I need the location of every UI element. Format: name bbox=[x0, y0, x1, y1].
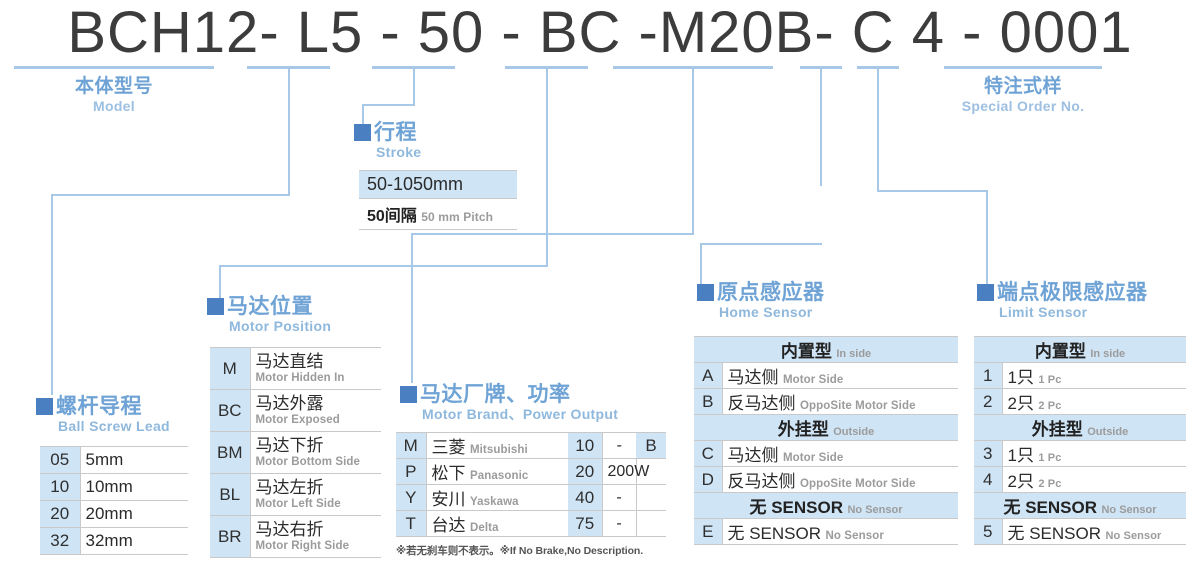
code-underline-model bbox=[14, 66, 214, 69]
brand-name-cell: 松下 Panasonic bbox=[426, 459, 568, 485]
limit-sensor-label-cn: 端点极限感应器 bbox=[997, 282, 1148, 304]
leader-home-h1 bbox=[700, 243, 822, 245]
brand-code-cell: M bbox=[396, 433, 426, 459]
stroke-range-row: 50-1050mm bbox=[359, 170, 517, 199]
home-sensor-section-cell: 内置型 In side bbox=[694, 337, 958, 363]
table-row: 055mm bbox=[40, 447, 188, 474]
limit-sensor-desc-cell: 1只 1 Pc bbox=[1002, 363, 1186, 389]
brake-code-cell bbox=[636, 511, 666, 537]
table-row: E无 SENSOR No Sensor bbox=[694, 519, 958, 545]
table-row: M马达直结Motor Hidden In bbox=[210, 348, 381, 390]
lead-value-cell: 32mm bbox=[80, 528, 188, 555]
home-sensor-desc-cell: 马达侧 Motor Side bbox=[722, 441, 958, 467]
motor-position-heading: 马达位置 Motor Position bbox=[207, 296, 331, 335]
limit-sensor-section-cell: 无 SENSOR No Sensor bbox=[974, 493, 1186, 519]
leader-lead-v2 bbox=[51, 194, 53, 395]
lead-value-cell: 20mm bbox=[80, 501, 188, 528]
power-value-cell: 200W bbox=[602, 459, 636, 485]
brand-name-cell: 台达 Delta bbox=[426, 511, 568, 537]
stroke-pitch-cn: 50间隔 bbox=[367, 208, 417, 225]
power-code-cell: 75 bbox=[568, 511, 602, 537]
limit-sensor-code-cell: 1 bbox=[974, 363, 1002, 389]
power-value-cell: - bbox=[602, 485, 636, 511]
stroke-label-cn: 行程 bbox=[374, 122, 417, 144]
motor-position-bullet-icon bbox=[207, 298, 224, 315]
leader-stroke-v1 bbox=[413, 66, 415, 105]
motor-position-code-cell: BL bbox=[210, 474, 250, 516]
home-sensor-section-cell: 外挂型 Outside bbox=[694, 415, 958, 441]
table-row: Y安川 Yaskawa40- bbox=[396, 485, 666, 511]
home-sensor-code-cell: D bbox=[694, 467, 722, 493]
table-row: D反马达侧 OppoSite Motor Side bbox=[694, 467, 958, 493]
table-row: BC马达外露Motor Exposed bbox=[210, 390, 381, 432]
code-underline-specialorder bbox=[944, 66, 1102, 69]
brand-code-cell: Y bbox=[396, 485, 426, 511]
brand-code-cell: T bbox=[396, 511, 426, 537]
home-sensor-table: 内置型 In sideA马达侧 Motor SideB反马达侧 OppoSite… bbox=[694, 336, 958, 545]
motor-position-desc-cell: 马达左折Motor Left Side bbox=[250, 474, 381, 516]
motor-brand-bullet-icon bbox=[400, 386, 417, 403]
lead-code-cell: 32 bbox=[40, 528, 80, 555]
motor-position-code-cell: BM bbox=[210, 432, 250, 474]
motor-brand-power-table: M三菱 Mitsubishi10-BP松下 Panasonic20200WY安川… bbox=[396, 432, 666, 537]
home-sensor-label-cn: 原点感应器 bbox=[717, 282, 825, 304]
lead-code-cell: 20 bbox=[40, 501, 80, 528]
brake-code-cell bbox=[636, 485, 666, 511]
limit-sensor-code-cell: 3 bbox=[974, 441, 1002, 467]
table-row: M三菱 Mitsubishi10-B bbox=[396, 433, 666, 459]
motor-brand-footnote: ※若无刹车则不表示。※If No Brake,No Description. bbox=[396, 543, 643, 558]
product-code-line: BCH12- L5 - 50 - BC -M20B- C 4 - 0001 bbox=[0, 2, 1200, 64]
motor-position-label-cn: 马达位置 bbox=[227, 296, 313, 318]
motor-position-label-en: Motor Position bbox=[207, 318, 331, 335]
table-section-row: 外挂型 Outside bbox=[974, 415, 1186, 441]
special-order-heading: 特注式样 Special Order No. bbox=[944, 76, 1102, 115]
motor-position-code-cell: M bbox=[210, 348, 250, 390]
ball-screw-lead-bullet-icon bbox=[36, 398, 53, 415]
home-sensor-code-cell: A bbox=[694, 363, 722, 389]
home-sensor-desc-cell: 马达侧 Motor Side bbox=[722, 363, 958, 389]
table-section-row: 无 SENSOR No Sensor bbox=[694, 493, 958, 519]
table-row: 1010mm bbox=[40, 474, 188, 501]
home-sensor-label-en: Home Sensor bbox=[697, 304, 825, 321]
table-section-row: 外挂型 Outside bbox=[694, 415, 958, 441]
brake-code-cell: B bbox=[636, 433, 666, 459]
power-value-cell: - bbox=[602, 511, 636, 537]
brand-name-cell: 安川 Yaskawa bbox=[426, 485, 568, 511]
stroke-heading: 行程 Stroke bbox=[354, 122, 421, 161]
home-sensor-desc-cell: 反马达侧 OppoSite Motor Side bbox=[722, 467, 958, 493]
limit-sensor-section-cell: 内置型 In side bbox=[974, 337, 1186, 363]
table-row: B反马达侧 OppoSite Motor Side bbox=[694, 389, 958, 415]
table-row: BL马达左折Motor Left Side bbox=[210, 474, 381, 516]
leader-lead-h1 bbox=[51, 194, 290, 196]
leader-mbrand-v1 bbox=[692, 66, 694, 234]
leader-home-v2 bbox=[700, 243, 702, 286]
table-row: A马达侧 Motor Side bbox=[694, 363, 958, 389]
model-label-cn: 本体型号 bbox=[14, 76, 214, 98]
motor-brand-heading: 马达厂牌、功率 Motor Brand、Power Output bbox=[400, 384, 618, 423]
home-sensor-code-cell: C bbox=[694, 441, 722, 467]
limit-sensor-heading: 端点极限感应器 Limit Sensor bbox=[977, 282, 1148, 321]
leader-limit-v2 bbox=[986, 190, 988, 286]
table-row: 5无 SENSOR No Sensor bbox=[974, 519, 1186, 545]
table-row: 11只 1 Pc bbox=[974, 363, 1186, 389]
limit-sensor-code-cell: 4 bbox=[974, 467, 1002, 493]
motor-position-code-cell: BC bbox=[210, 390, 250, 432]
leader-stroke-v2 bbox=[362, 104, 364, 124]
ball-screw-lead-label-en: Ball Screw Lead bbox=[36, 418, 170, 435]
special-order-label-cn: 特注式样 bbox=[944, 76, 1102, 98]
leader-home-v1 bbox=[820, 66, 822, 186]
home-sensor-heading: 原点感应器 Home Sensor bbox=[697, 282, 825, 321]
ball-screw-lead-heading: 螺杆导程 Ball Screw Lead bbox=[36, 396, 170, 435]
leader-limit-v1 bbox=[877, 66, 879, 191]
limit-sensor-code-cell: 2 bbox=[974, 389, 1002, 415]
motor-position-desc-cell: 马达下折Motor Bottom Side bbox=[250, 432, 381, 474]
stroke-pitch-en: 50 mm Pitch bbox=[421, 210, 493, 224]
motor-position-desc-cell: 马达直结Motor Hidden In bbox=[250, 348, 381, 390]
stroke-label-en: Stroke bbox=[354, 144, 421, 161]
special-order-label-en: Special Order No. bbox=[944, 98, 1102, 115]
limit-sensor-code-cell: 5 bbox=[974, 519, 1002, 545]
table-row: C马达侧 Motor Side bbox=[694, 441, 958, 467]
brand-code-cell: P bbox=[396, 459, 426, 485]
home-sensor-desc-cell: 反马达侧 OppoSite Motor Side bbox=[722, 389, 958, 415]
stroke-pitch-row: 50间隔 50 mm Pitch bbox=[359, 199, 517, 230]
power-value-cell: - bbox=[602, 433, 636, 459]
limit-sensor-table: 内置型 In side11只 1 Pc22只 2 Pc外挂型 Outside31… bbox=[974, 336, 1186, 545]
limit-sensor-desc-cell: 1只 1 Pc bbox=[1002, 441, 1186, 467]
model-heading: 本体型号 Model bbox=[14, 76, 214, 115]
motor-position-code-cell: BR bbox=[210, 516, 250, 558]
table-section-row: 无 SENSOR No Sensor bbox=[974, 493, 1186, 519]
model-label-en: Model bbox=[14, 98, 214, 115]
home-sensor-bullet-icon bbox=[697, 284, 714, 301]
lead-value-cell: 10mm bbox=[80, 474, 188, 501]
lead-code-cell: 05 bbox=[40, 447, 80, 474]
limit-sensor-bullet-icon bbox=[977, 284, 994, 301]
power-code-cell: 10 bbox=[568, 433, 602, 459]
leader-stroke-h1 bbox=[362, 104, 415, 106]
limit-sensor-section-cell: 外挂型 Outside bbox=[974, 415, 1186, 441]
product-code-diagram: BCH12- L5 - 50 - BC -M20B- C 4 - 0001 本体… bbox=[0, 0, 1200, 575]
limit-sensor-desc-cell: 无 SENSOR No Sensor bbox=[1002, 519, 1186, 545]
leader-mpos-v1 bbox=[546, 66, 548, 266]
table-row: 2020mm bbox=[40, 501, 188, 528]
limit-sensor-desc-cell: 2只 2 Pc bbox=[1002, 467, 1186, 493]
motor-brand-label-en: Motor Brand、Power Output bbox=[400, 406, 618, 423]
table-row: 42只 2 Pc bbox=[974, 467, 1186, 493]
leader-limit-h1 bbox=[877, 190, 987, 192]
lead-code-cell: 10 bbox=[40, 474, 80, 501]
table-section-row: 内置型 In side bbox=[974, 337, 1186, 363]
ball-screw-lead-label-cn: 螺杆导程 bbox=[56, 396, 142, 418]
leader-mbrand-h1 bbox=[411, 233, 694, 235]
table-row: T台达 Delta75- bbox=[396, 511, 666, 537]
motor-position-desc-cell: 马达右折Motor Right Side bbox=[250, 516, 381, 558]
limit-sensor-desc-cell: 2只 2 Pc bbox=[1002, 389, 1186, 415]
table-row: P松下 Panasonic20200W bbox=[396, 459, 666, 485]
stroke-bullet-icon bbox=[354, 124, 371, 141]
table-row: 22只 2 Pc bbox=[974, 389, 1186, 415]
brand-name-cell: 三菱 Mitsubishi bbox=[426, 433, 568, 459]
stroke-table: 50-1050mm 50间隔 50 mm Pitch bbox=[359, 170, 517, 230]
table-row: BR马达右折Motor Right Side bbox=[210, 516, 381, 558]
table-row: BM马达下折Motor Bottom Side bbox=[210, 432, 381, 474]
power-code-cell: 20 bbox=[568, 459, 602, 485]
table-row: 31只 1 Pc bbox=[974, 441, 1186, 467]
motor-position-desc-cell: 马达外露Motor Exposed bbox=[250, 390, 381, 432]
table-section-row: 内置型 In side bbox=[694, 337, 958, 363]
motor-position-table: M马达直结Motor Hidden InBC马达外露Motor ExposedB… bbox=[210, 347, 381, 558]
leader-mpos-h1 bbox=[219, 265, 548, 267]
leader-mbrand-v2 bbox=[411, 233, 413, 383]
power-code-cell: 40 bbox=[568, 485, 602, 511]
leader-lead-v1 bbox=[288, 66, 290, 195]
limit-sensor-label-en: Limit Sensor bbox=[977, 304, 1148, 321]
motor-brand-label-cn: 马达厂牌、功率 bbox=[420, 384, 571, 406]
home-sensor-code-cell: E bbox=[694, 519, 722, 545]
ball-screw-lead-table: 055mm1010mm2020mm3232mm bbox=[40, 446, 188, 555]
home-sensor-code-cell: B bbox=[694, 389, 722, 415]
table-row: 3232mm bbox=[40, 528, 188, 555]
home-sensor-section-cell: 无 SENSOR No Sensor bbox=[694, 493, 958, 519]
lead-value-cell: 5mm bbox=[80, 447, 188, 474]
home-sensor-desc-cell: 无 SENSOR No Sensor bbox=[722, 519, 958, 545]
